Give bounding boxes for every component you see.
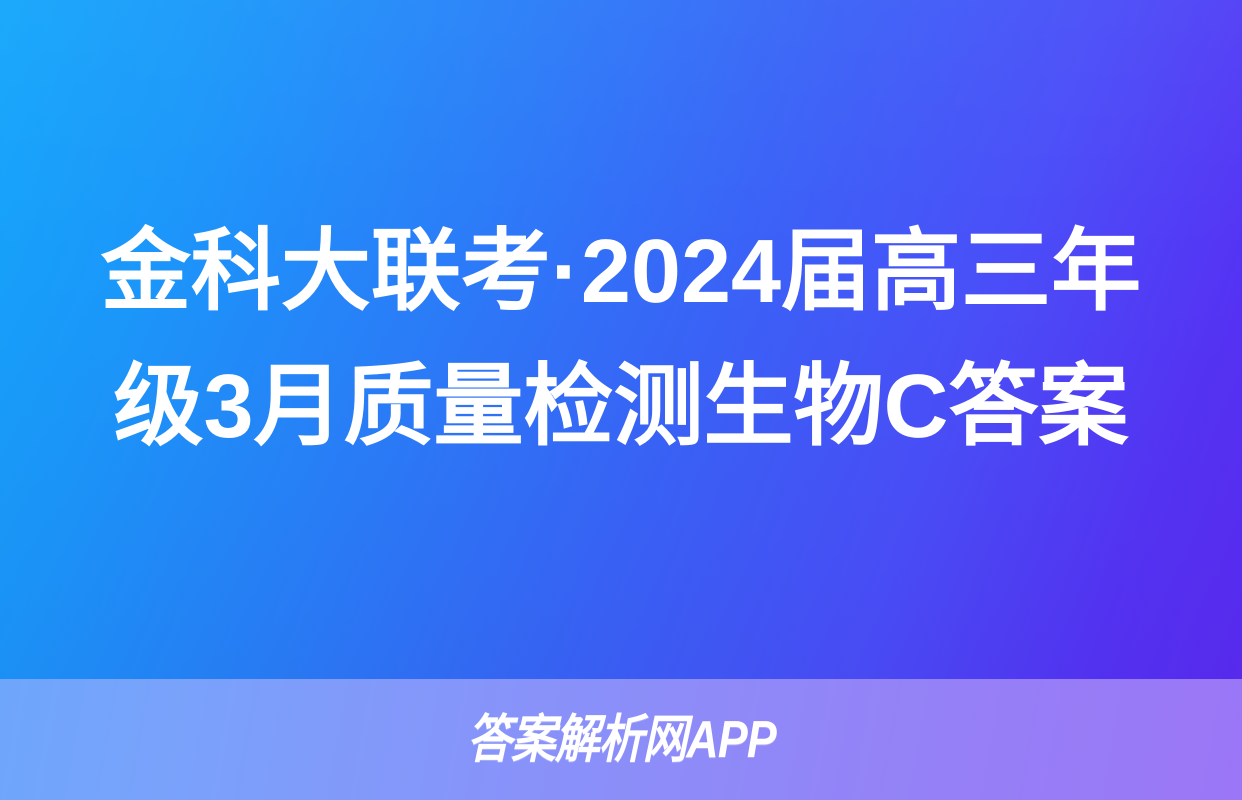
hero-gradient-panel: 金科大联考·2024届高三年级3月质量检测生物C答案 (0, 0, 1242, 679)
page-title: 金科大联考·2024届高三年级3月质量检测生物C答案 (84, 205, 1158, 473)
watermark-band: 答案解析网APP (0, 679, 1242, 800)
answer-poster: 金科大联考·2024届高三年级3月质量检测生物C答案 答案解析网APP (0, 0, 1242, 800)
watermark-label: 答案解析网APP (467, 714, 776, 766)
